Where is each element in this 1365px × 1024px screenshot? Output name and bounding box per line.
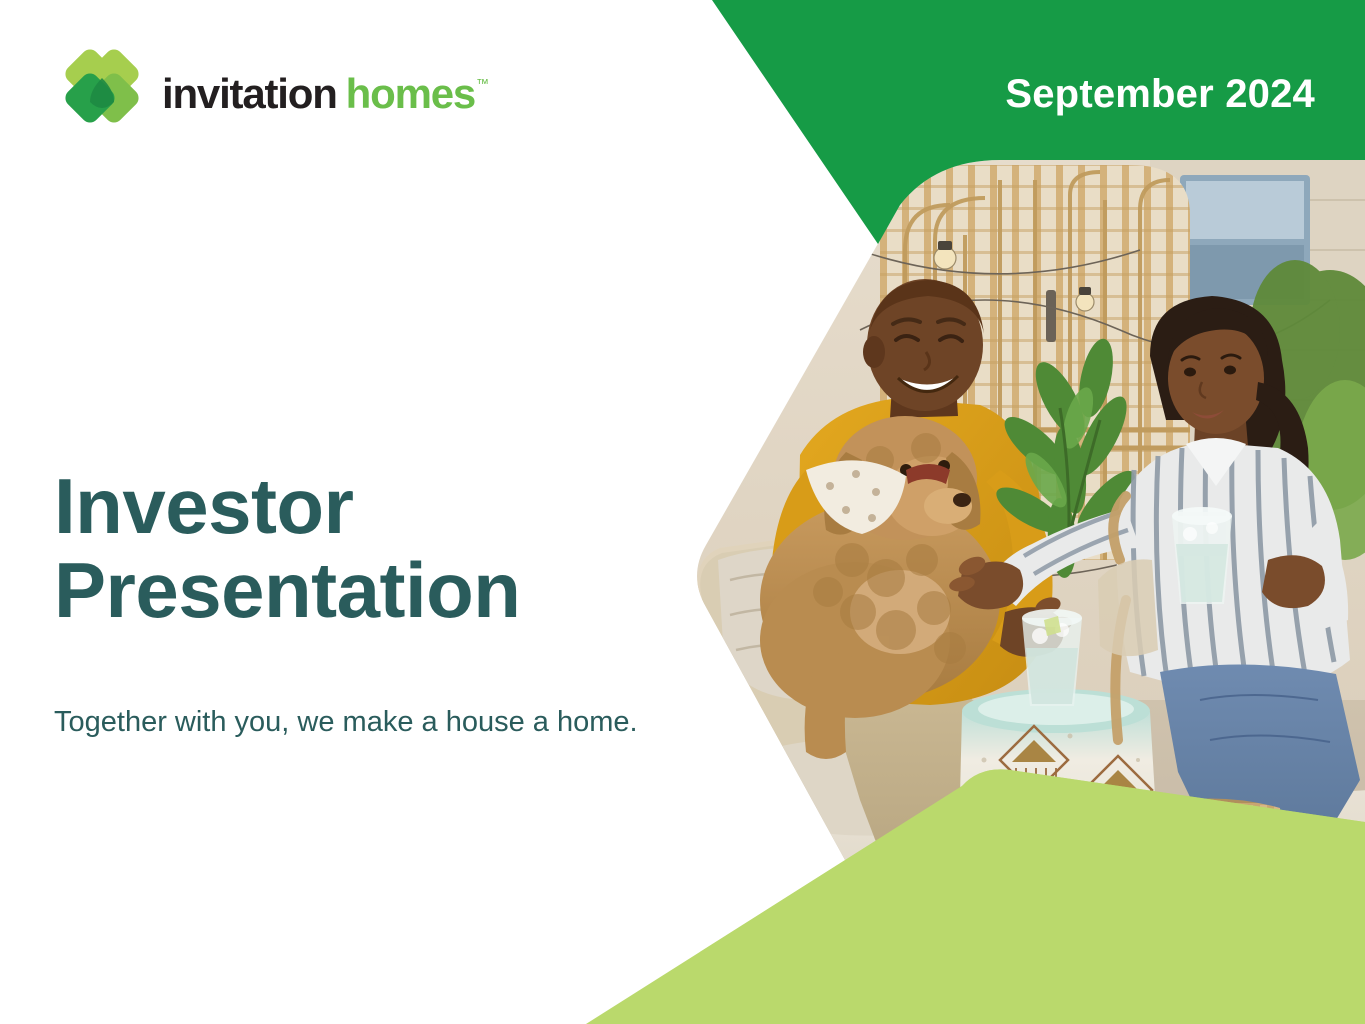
page-tagline: Together with you, we make a house a hom… xyxy=(54,704,754,740)
trademark-icon: ™ xyxy=(476,77,489,90)
accent-wedge-light-green xyxy=(0,724,1365,1024)
invitation-homes-diamond-mark-icon xyxy=(56,48,148,140)
diamond-mark-svg xyxy=(56,48,148,140)
wordmark-homes: homes xyxy=(346,73,475,115)
brand-wordmark: invitation homes ™ xyxy=(162,73,489,115)
presentation-date: September 2024 xyxy=(1005,72,1315,117)
page-title-line-2: Presentation xyxy=(54,548,654,632)
presentation-title-slide: September 2024 invitation homes ™ xyxy=(0,0,1365,1024)
wordmark-invitation: invitation xyxy=(162,73,337,115)
header-banner-fill xyxy=(712,0,1365,244)
page-title-line-1: Investor xyxy=(54,464,654,548)
page-title: Investor Presentation xyxy=(54,464,654,632)
brand-logo[interactable]: invitation homes ™ xyxy=(56,48,489,140)
header-banner-shape xyxy=(0,0,1365,300)
